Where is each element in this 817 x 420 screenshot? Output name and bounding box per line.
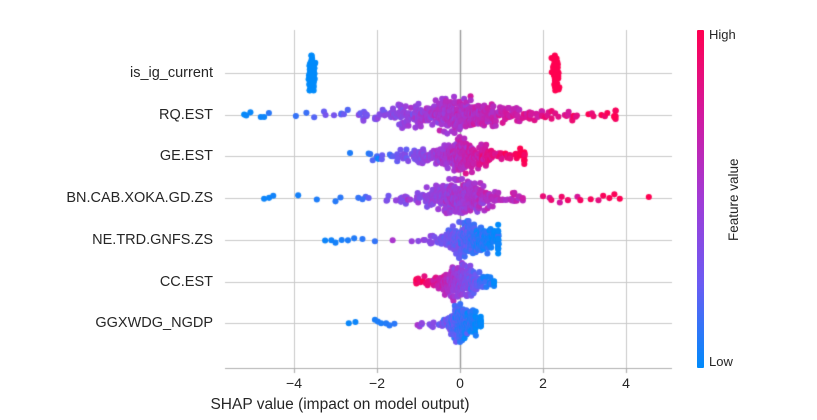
x-tick-label-2: 0 xyxy=(456,375,464,391)
y-tick-label-is-ig-current: is_ig_current xyxy=(0,65,213,81)
x-tick-label-3: 2 xyxy=(539,375,547,391)
x-tick-label-0: −4 xyxy=(286,375,302,391)
y-tick-label-ne-trd-gnfs-zs: NE.TRD.GNFS.ZS xyxy=(0,232,213,248)
beeswarm-plot-area xyxy=(0,0,817,420)
y-tick-label-cc-est: CC.EST xyxy=(0,274,213,290)
shap-summary-figure: SHAP summary — Logistic regression (macr… xyxy=(0,0,817,420)
y-tick-label-ggxwdg-ngdp: GGXWDG_NGDP xyxy=(0,315,213,331)
x-tick-label-1: −2 xyxy=(369,375,385,391)
colorbar-title: Feature value xyxy=(726,158,741,241)
colorbar-low-label: Low xyxy=(709,354,733,369)
y-tick-label-rq-est: RQ.EST xyxy=(0,107,213,123)
feature-value-colorbar xyxy=(697,30,704,368)
y-tick-label-bn-cab-xoka-gd-zs: BN.CAB.XOKA.GD.ZS xyxy=(0,190,213,206)
y-tick-label-ge-est: GE.EST xyxy=(0,148,213,164)
x-axis-title: SHAP value (impact on model output) xyxy=(0,396,680,414)
colorbar-high-label: High xyxy=(709,27,736,42)
x-tick-label-4: 4 xyxy=(622,375,630,391)
